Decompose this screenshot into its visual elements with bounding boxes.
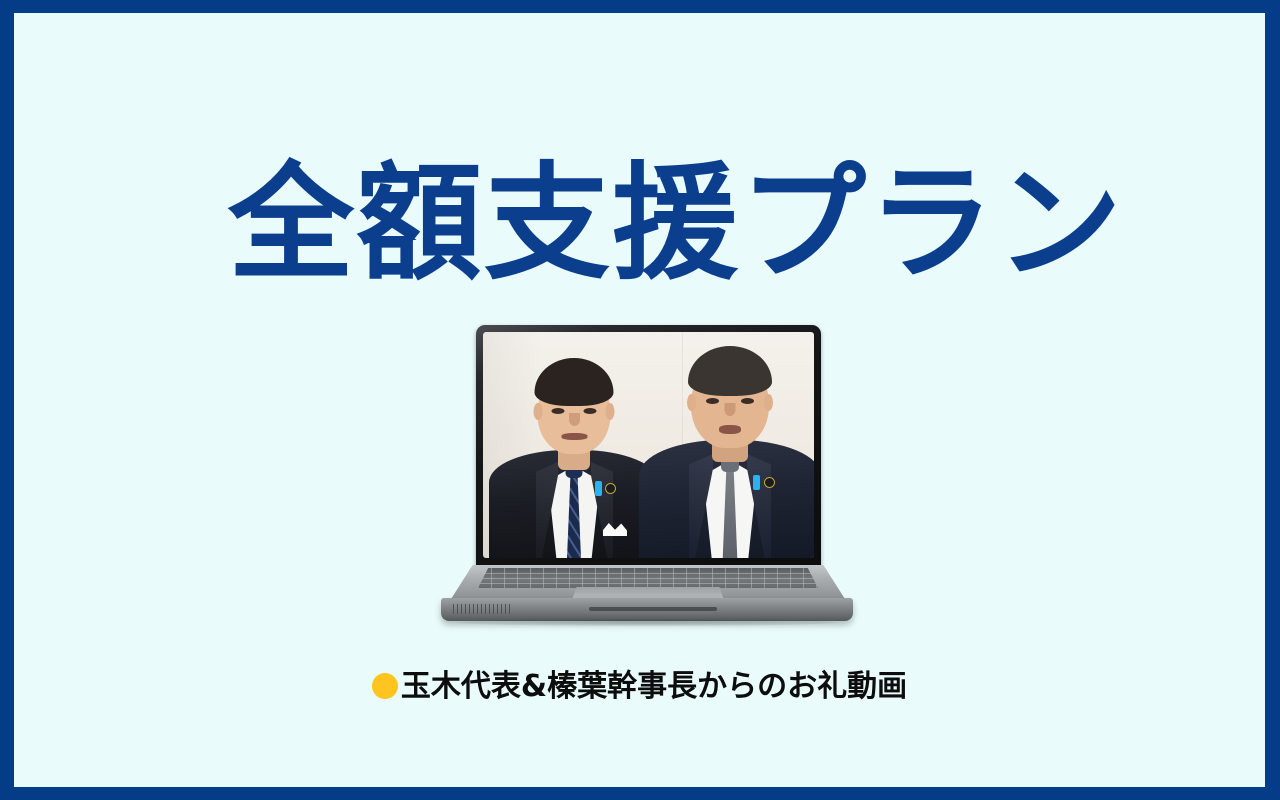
person-right-ribbon-pin	[753, 475, 760, 490]
person-left-mouth	[561, 433, 587, 440]
laptop-display	[483, 332, 814, 558]
person-right-eye-left	[706, 398, 719, 404]
person-left-badge-pin	[605, 483, 616, 494]
person-left-ribbon-pin	[595, 481, 602, 496]
person-left-eye-left	[552, 408, 565, 414]
laptop-illustration	[437, 313, 857, 627]
person-left-ear-left	[534, 403, 543, 420]
laptop-keyboard	[478, 568, 818, 588]
person-right-ear-left	[687, 394, 696, 411]
person-right-ear-right	[764, 394, 773, 411]
person-right-badge-pin	[764, 477, 775, 488]
person-left-hair	[535, 358, 614, 406]
person-left	[491, 343, 657, 558]
person-left-ear-right	[606, 403, 615, 420]
caption-line: 玉木代表&榛葉幹事長からのお礼動画	[14, 661, 1265, 705]
person-right-eye-right	[741, 398, 754, 404]
laptop-vent-grille	[453, 604, 513, 614]
keyboard-row-divider	[478, 578, 818, 579]
filled-circle-bullet-icon	[372, 673, 398, 699]
person-right	[641, 332, 814, 558]
caption-text: 玉木代表&榛葉幹事長からのお礼動画	[401, 669, 907, 704]
laptop-front-latch	[589, 607, 717, 611]
laptop-front-edge	[441, 598, 853, 621]
video-thumbnail-photo	[483, 332, 814, 558]
keyboard-row-divider	[478, 573, 818, 574]
slide-canvas: 全額支援プラン	[0, 0, 1280, 800]
person-left-nose	[569, 413, 580, 426]
page-title: 全額支援プラン	[228, 161, 1080, 287]
keyboard-row-divider	[478, 583, 818, 584]
person-right-hair	[688, 346, 772, 396]
laptop-drop-shadow	[457, 619, 837, 626]
person-right-nose	[725, 403, 736, 416]
person-left-eye-right	[584, 408, 597, 414]
laptop-screen-bezel	[476, 325, 821, 568]
person-right-mouth	[719, 425, 741, 434]
